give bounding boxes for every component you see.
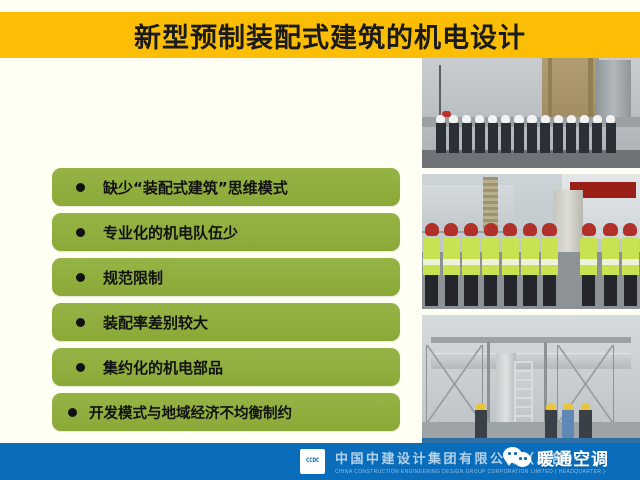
bullet-dot-icon [76, 228, 85, 237]
list-item: 装配率差别较大 [52, 303, 400, 341]
photo-site-visit [422, 174, 640, 309]
photo-people-row [422, 223, 640, 307]
photo-ground [422, 150, 640, 168]
bullet-dot-icon [68, 408, 77, 417]
bullet-dot-icon [76, 273, 85, 282]
list-item-label: 规范限制 [103, 267, 163, 288]
photo-beam-erection [422, 315, 640, 450]
list-item: 规范限制 [52, 258, 400, 296]
list-item: 缺少“装配式建筑”思维模式 [52, 168, 400, 206]
photo-column [422, 58, 640, 456]
list-item: 专业化的机电队伍少 [52, 213, 400, 251]
list-item: 开发模式与地域经济不均衡制约 [52, 393, 400, 431]
list-item: 集约化的机电部品 [52, 348, 400, 386]
wechat-account-label: 暖通空调 [537, 445, 609, 470]
title-band: 新型预制装配式建筑的机电设计 [0, 12, 640, 58]
photo-ladder [514, 361, 534, 426]
photo-upper-beam [431, 337, 632, 344]
photo-scaffold-post [487, 342, 490, 426]
company-logo-mark: CCDC [306, 458, 319, 464]
list-item-label: 缺少“装配式建筑”思维模式 [103, 177, 288, 198]
slide-canvas: 新型预制装配式建筑的机电设计 缺少“装配式建筑”思维模式 专业化的机电队伍少 规… [0, 0, 640, 480]
photo-construction-group [422, 58, 640, 168]
bullet-dot-icon [76, 183, 85, 192]
photo-crane-cable [439, 65, 441, 116]
list-item-label: 专业化的机电队伍少 [103, 222, 238, 243]
wechat-icon [503, 444, 533, 470]
list-item-label: 开发模式与地域经济不均衡制约 [89, 402, 292, 423]
photo-deck [422, 422, 640, 438]
wechat-watermark: 暖通空调 [503, 444, 609, 470]
page-title: 新型预制装配式建筑的机电设计 [114, 16, 526, 55]
bullet-list: 缺少“装配式建筑”思维模式 专业化的机电队伍少 规范限制 装配率差别较大 集约化… [52, 168, 400, 438]
list-item-label: 集约化的机电部品 [103, 357, 223, 378]
list-item-label: 装配率差别较大 [103, 312, 208, 333]
bullet-dot-icon [76, 318, 85, 327]
photo-people-row [422, 115, 640, 152]
bullet-dot-icon [76, 363, 85, 372]
company-logo-icon: CCDC [300, 449, 325, 474]
